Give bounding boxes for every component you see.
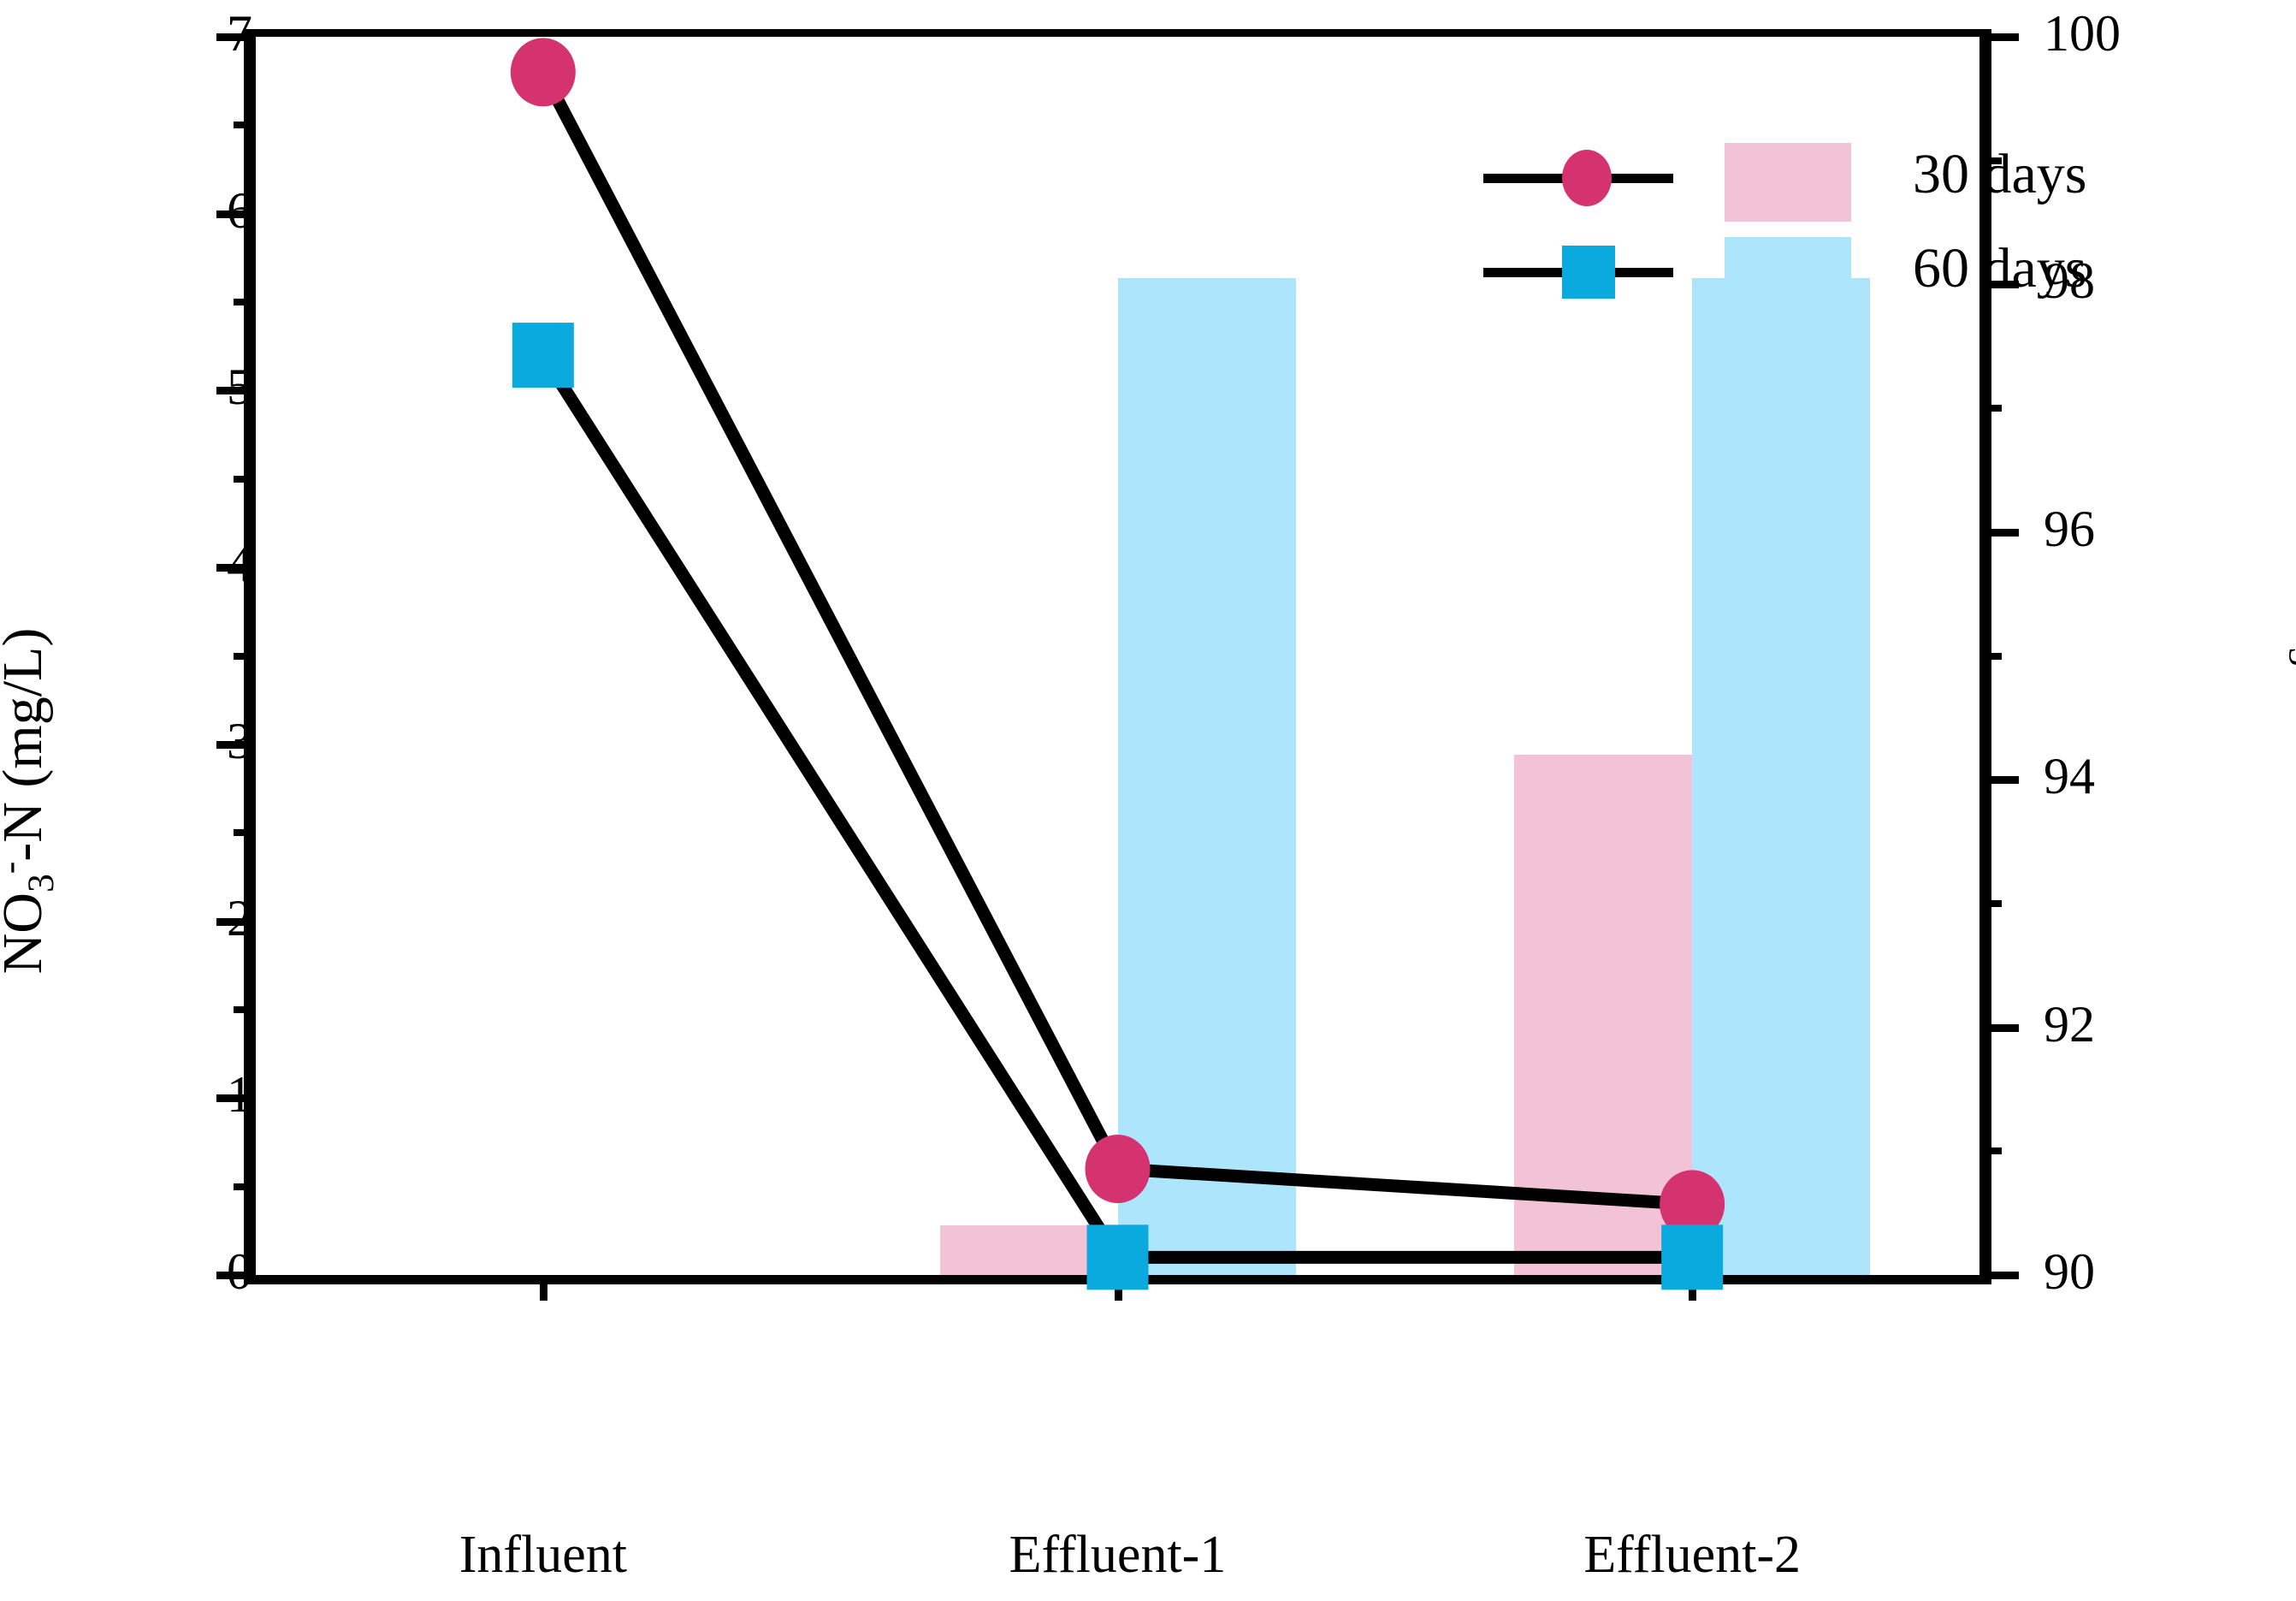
legend-circle-marker-icon: [1562, 150, 1612, 206]
y-axis-right-tick-label: 96: [2044, 503, 2095, 554]
y-axis-left-minor-tick: [234, 1006, 256, 1013]
data-point-marker: [511, 38, 576, 106]
y-axis-left-title-sub: 3: [21, 874, 62, 892]
bar: [1692, 278, 1870, 1275]
y-axis-right-minor-tick: [1979, 653, 2002, 660]
y-axis-left-minor-tick: [234, 299, 256, 305]
legend-label: 30 days: [1913, 135, 2086, 214]
y-axis-right-title-post: -N removal rate: [2289, 678, 2296, 1035]
x-axis-tick: [1115, 1275, 1122, 1301]
bar: [1118, 278, 1296, 1275]
x-axis-tick-label: Effluent-2: [1435, 1528, 1949, 1581]
y-axis-right-tick-label: 90: [2044, 1246, 2095, 1297]
y-axis-left-minor-tick: [234, 653, 256, 660]
y-axis-right-major-tick: [1979, 776, 2019, 784]
y-axis-right-major-tick: [1979, 33, 2019, 41]
y-axis-left-minor-tick: [234, 122, 256, 128]
y-axis-right-title: NO3--N removal rate: [2282, 566, 2296, 1035]
y-axis-right-minor-tick: [1979, 405, 2002, 412]
y-axis-right-major-tick: [1979, 1272, 2019, 1279]
x-axis-tick-label: Effluent-1: [861, 1528, 1375, 1581]
bar: [1514, 755, 1692, 1275]
y-axis-right-tick-label: 94: [2044, 750, 2095, 802]
y-axis-right-tick-label: 92: [2044, 999, 2095, 1050]
y-axis-right-title-pre: NO: [2289, 566, 2296, 647]
y-axis-left-minor-tick: [234, 829, 256, 836]
y-axis-left-tick-label: 4: [227, 538, 252, 590]
x-axis-tick: [540, 1275, 547, 1301]
y-axis-right-major-tick: [1979, 529, 2019, 537]
y-axis-left-tick-label: 0: [227, 1246, 252, 1297]
y-axis-right-tick-label: 100: [2044, 8, 2121, 59]
y-axis-left-tick-label: 5: [227, 361, 252, 412]
y-axis-left-tick-label: 3: [227, 715, 252, 767]
x-axis-tick: [1689, 1275, 1696, 1301]
legend-square-marker-icon: [1562, 246, 1615, 299]
legend-bar-swatch-icon: [1725, 237, 1851, 316]
chart-figure: NO3--N (mg/L) NO3--N removal rate 30 day…: [0, 0, 2296, 1601]
plot-area: 30 days60 days: [244, 29, 1991, 1284]
y-axis-left-title-post: -N (mg/L): [0, 627, 54, 861]
y-axis-left-title-sup: -: [0, 861, 30, 874]
y-axis-left-tick-label: 7: [227, 8, 252, 59]
y-axis-right-major-tick: [1979, 1024, 2019, 1032]
data-point-marker: [512, 323, 574, 388]
x-axis-tick-label: Influent: [287, 1528, 800, 1581]
y-axis-right-minor-tick: [1979, 900, 2002, 907]
y-axis-right-title-sub: 3: [2281, 647, 2296, 666]
legend-bar-swatch-icon: [1725, 143, 1851, 222]
y-axis-left-tick-label: 6: [227, 185, 252, 236]
y-axis-right-minor-tick: [1979, 1147, 2002, 1154]
y-axis-left-minor-tick: [234, 1183, 256, 1190]
y-axis-left-tick-label: 2: [227, 892, 252, 944]
y-axis-left-minor-tick: [234, 476, 256, 483]
y-axis-left-title-pre: NO: [0, 892, 54, 974]
y-axis-left-tick-label: 1: [227, 1069, 252, 1120]
y-axis-left-title: NO3--N (mg/L): [0, 627, 61, 974]
y-axis-right-tick-label: 98: [2044, 255, 2095, 306]
bar: [940, 1225, 1118, 1275]
